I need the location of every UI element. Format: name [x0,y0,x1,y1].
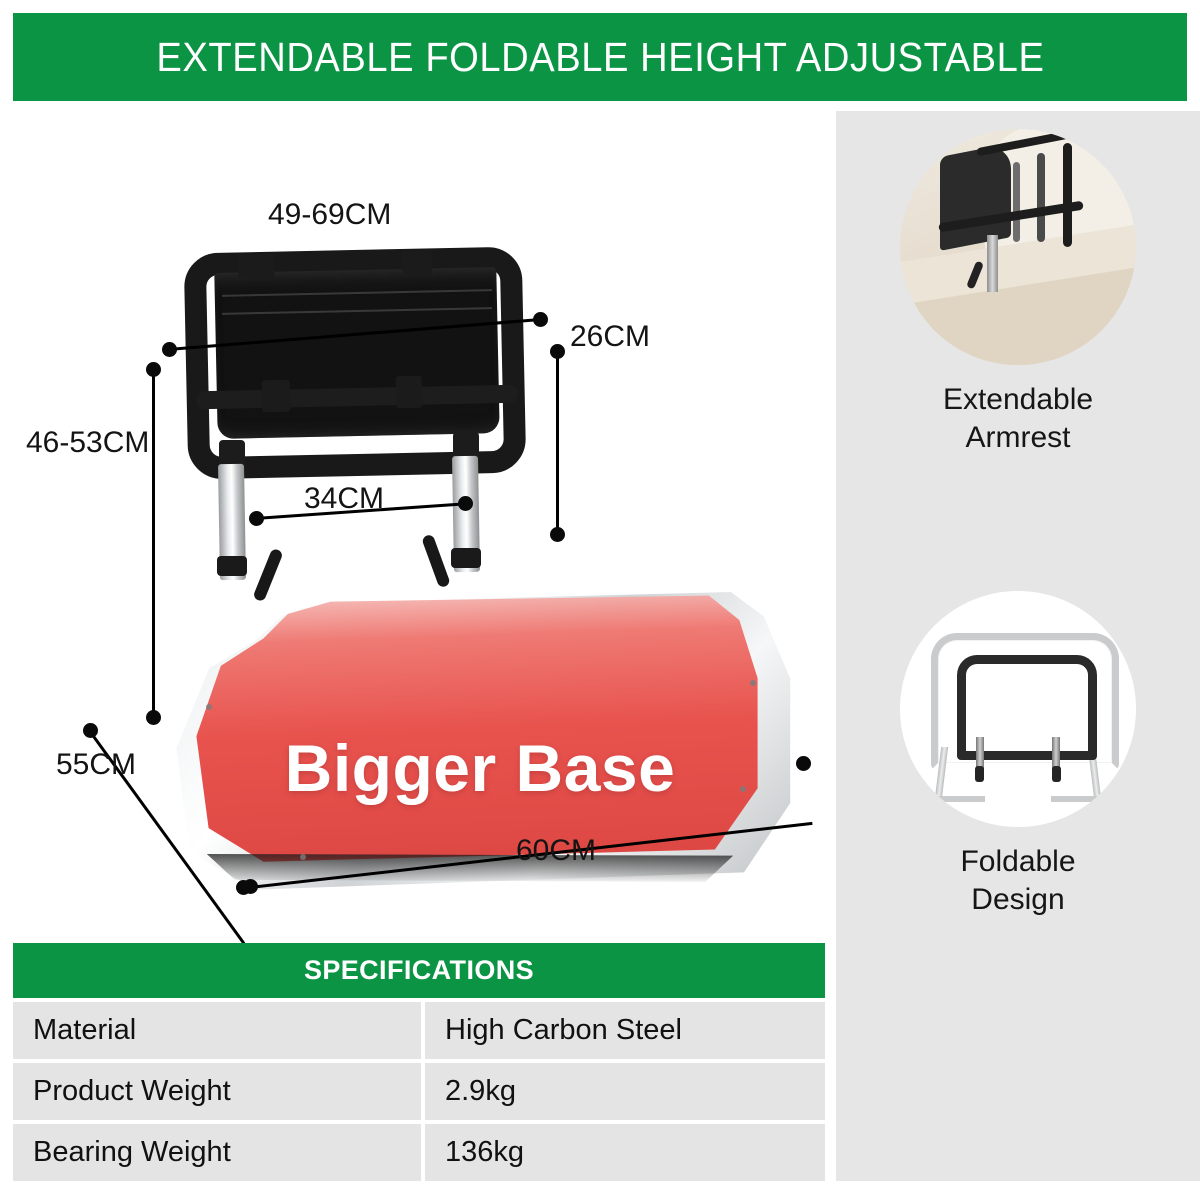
feature-caption-line-1: Foldable [836,843,1200,881]
feature-foldable-design: Foldable Design [836,591,1200,918]
dimension-endpoint [533,312,548,327]
dimension-line-total-height [152,370,155,718]
dimension-endpoint [243,879,258,894]
spec-key: Product Weight [13,1063,421,1120]
feature-image-foldable [900,591,1136,827]
dimension-label-base-width: 60CM [516,834,596,868]
product-illustration: Bigger Base 49-69CM 26CM 46-53CM 34CM 55… [0,104,836,930]
bigger-base-label: Bigger Base [150,730,810,806]
dimension-endpoint [162,342,177,357]
dimension-endpoint [550,527,565,542]
base-rivet [300,854,306,860]
base-shadow [190,854,750,882]
fabric-strap [402,250,432,275]
rail-fabric-panel [940,143,1011,251]
dimension-endpoint [550,344,565,359]
dimension-label-rail-height: 26CM [570,320,650,354]
feature-extendable-armrest: Extendable Armrest [836,129,1200,456]
fabric-strap [238,254,274,279]
dimension-label-leg-span: 34CM [304,482,384,516]
fabric-strap [396,376,423,409]
feature-caption-foldable: Foldable Design [836,843,1200,918]
dimension-endpoint [146,710,161,725]
table-row: Bearing Weight 136kg [13,1124,825,1181]
spec-value: 136kg [425,1124,825,1181]
rail-tube [1013,162,1020,242]
dimension-endpoint [458,496,473,511]
dimension-label-width-top: 49-69CM [268,198,391,232]
spec-key: Material [13,1002,421,1059]
spec-key: Bearing Weight [13,1124,421,1181]
base-rivet [206,704,212,710]
dimension-line-rail-height [556,352,559,534]
dimension-label-base-depth: 55CM [56,748,136,782]
feature-caption-line-2: Armrest [836,419,1200,457]
dimension-endpoint [83,723,98,738]
base-rivet [750,680,756,686]
feature-image-armrest [900,129,1136,365]
dimension-endpoint [796,756,811,771]
table-row: Material High Carbon Steel [13,1002,825,1059]
table-row: Product Weight 2.9kg [13,1063,825,1120]
bed-scene [900,129,1136,365]
rail-tube [1037,153,1045,243]
chrome-foot [933,796,985,802]
base-plate: Bigger Base [150,554,810,900]
dimension-endpoint [146,362,161,377]
base-red-surface [172,568,782,874]
product-infographic: EXTENDABLE FOLDABLE HEIGHT ADJUSTABLE [0,0,1200,1201]
dimension-endpoint [249,511,264,526]
folded-leg-clip [975,766,984,782]
chrome-foot [1051,796,1103,802]
spec-value: High Carbon Steel [425,1002,825,1059]
specifications-title: SPECIFICATIONS [13,943,825,998]
feature-caption-line-1: Extendable [836,381,1200,419]
feature-sidebar: Extendable Armrest [836,111,1200,1181]
foldable-scene [900,591,1136,827]
rail-support-post [987,235,998,292]
feature-caption-line-2: Design [836,881,1200,919]
specifications-table: SPECIFICATIONS Material High Carbon Stee… [13,943,825,1181]
feature-caption-armrest: Extendable Armrest [836,381,1200,456]
dimension-label-total-height: 46-53CM [26,426,149,460]
spec-value: 2.9kg [425,1063,825,1120]
page-title: EXTENDABLE FOLDABLE HEIGHT ADJUSTABLE [156,34,1044,81]
rail-tube [1063,143,1072,247]
header-banner: EXTENDABLE FOLDABLE HEIGHT ADJUSTABLE [13,13,1187,101]
fabric-strap [262,380,291,413]
folded-leg-clip [1052,766,1061,782]
